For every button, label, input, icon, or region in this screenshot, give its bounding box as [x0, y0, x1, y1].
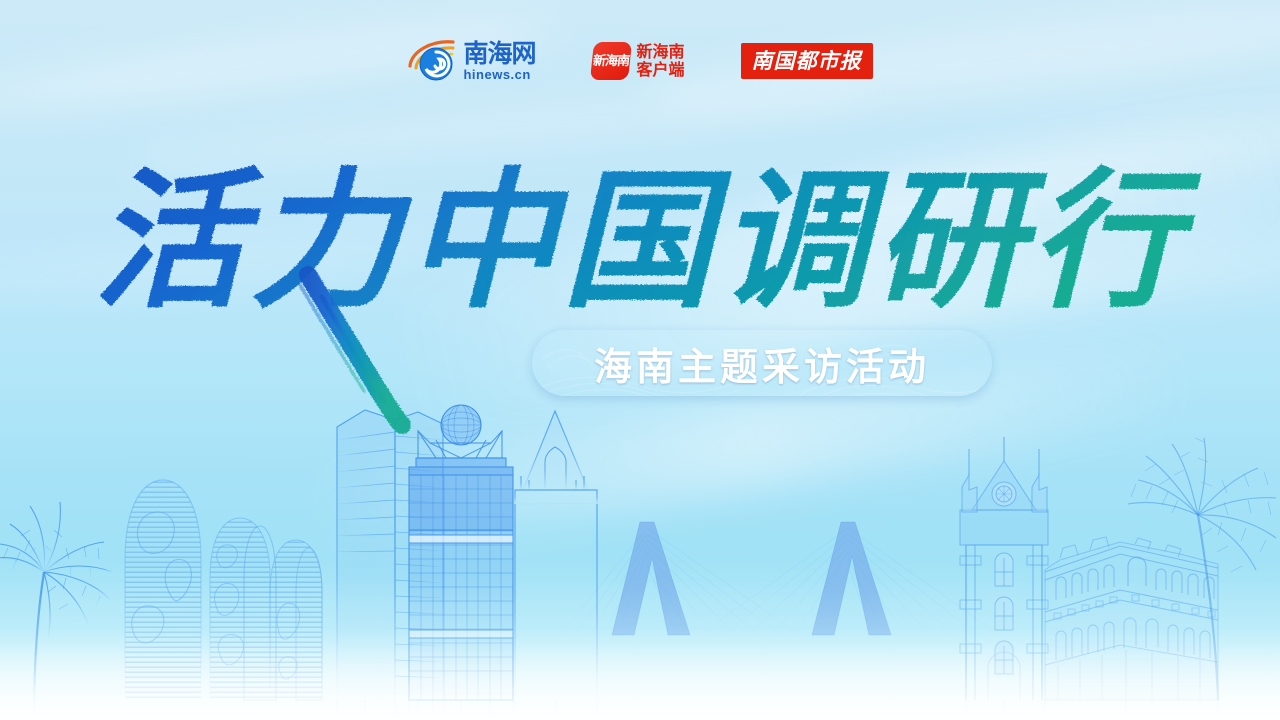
cloud-streak — [760, 107, 1280, 233]
new-hainan-line1: 新海南 — [637, 43, 685, 61]
hinews-swirl-icon — [407, 38, 459, 84]
new-hainan-app-badge: 新海南 — [590, 42, 632, 80]
palm-tree-left — [0, 502, 112, 720]
subtitle-text: 海南主题采访活动 — [594, 336, 930, 391]
water-haze-bottom — [0, 628, 1280, 720]
new-hainan-line2: 客户端 — [637, 61, 685, 79]
water-haze — [0, 520, 1280, 720]
water-reflections — [337, 700, 1218, 720]
new-hainan-app-wordmark: 新海南 客户端 — [637, 43, 685, 79]
brush-stroke-tail — [300, 275, 402, 425]
logo-new-hainan-app[interactable]: 新海南 新海南 客户端 — [592, 42, 685, 80]
cloud-streak — [0, 232, 441, 302]
twin-glass-towers — [337, 410, 443, 700]
headline-text: 活力中国调研行 — [94, 155, 1202, 329]
haikou-clock-tower — [960, 437, 1048, 700]
pyramid-roof-tower — [515, 411, 597, 700]
palm-tree-right — [1128, 438, 1276, 700]
hinews-wordmark: 南海网 hinews.cn — [463, 41, 535, 81]
logo-bar: 南海网 hinews.cn 新海南 新海南 客户端 南国都市报 — [0, 33, 1280, 89]
cloud-streak — [879, 228, 1280, 335]
subtitle-pill: 海南主题采访活动 — [532, 330, 992, 396]
poster-canvas: 南海网 hinews.cn 新海南 新海南 客户端 南国都市报 — [0, 0, 1280, 720]
logo-nanguo-metropolis-daily[interactable]: 南国都市报 — [741, 43, 873, 79]
hinews-en-text: hinews.cn — [463, 68, 535, 81]
hainan-center-towers — [125, 480, 322, 700]
hinews-cn-text: 南海网 — [463, 41, 535, 66]
qilou-arcade-building — [1045, 537, 1218, 700]
globe-crown-tower — [409, 405, 513, 700]
logo-hinews[interactable]: 南海网 hinews.cn — [407, 38, 535, 84]
century-bridge — [560, 510, 1020, 635]
cloud-streak — [120, 77, 880, 179]
